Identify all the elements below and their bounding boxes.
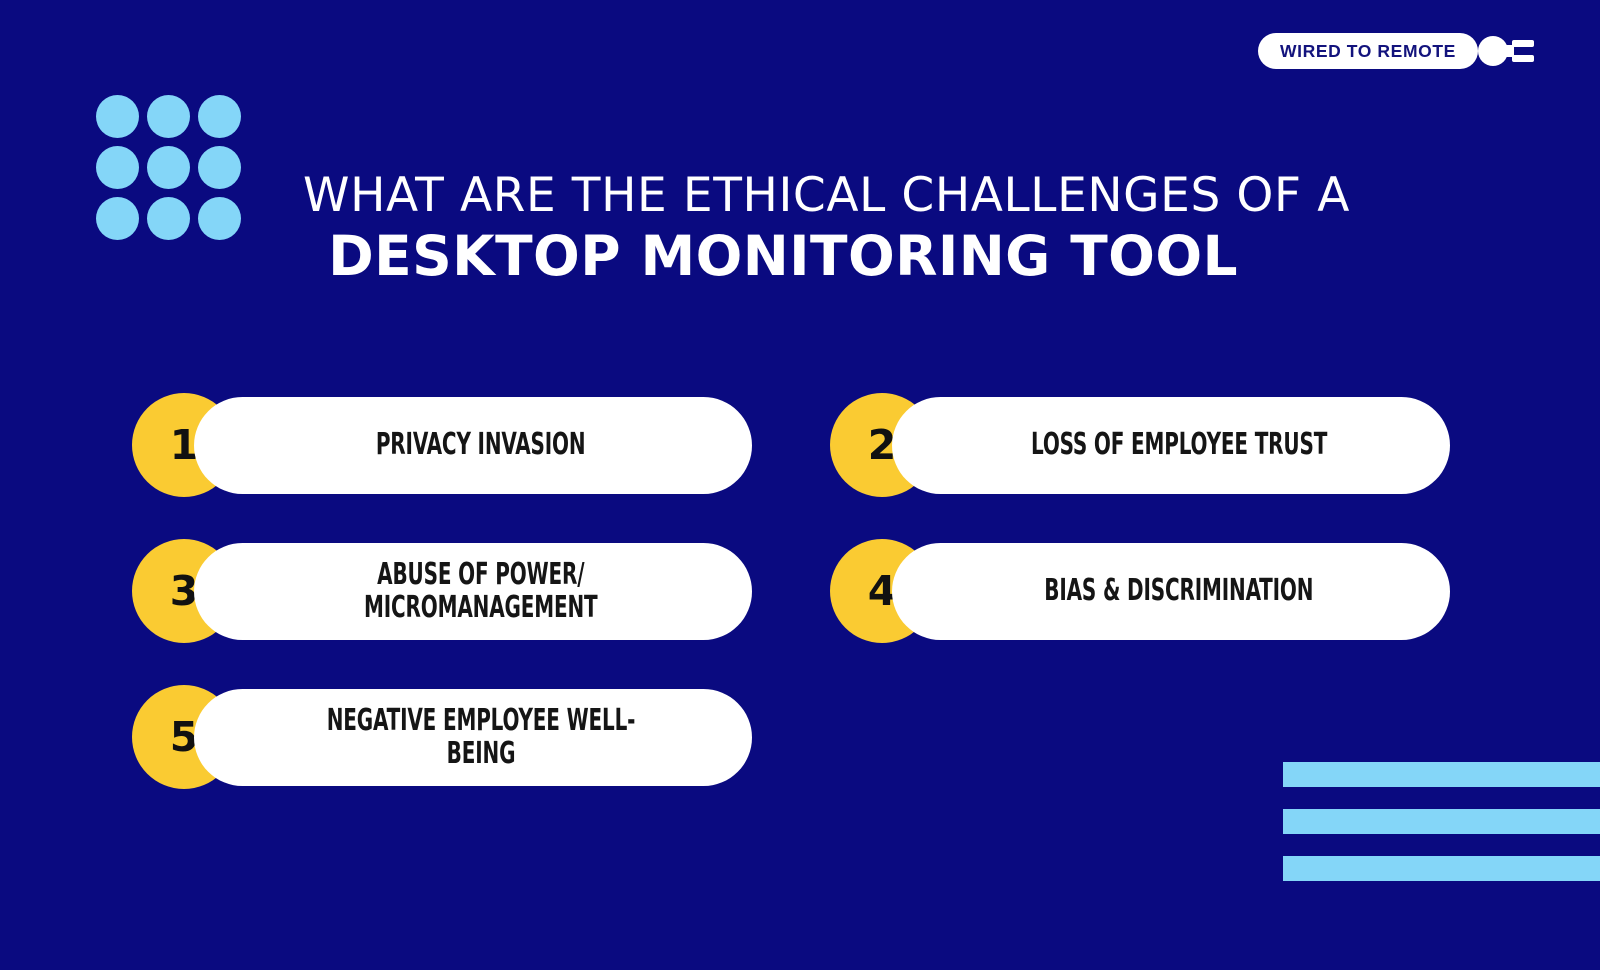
plug-icon <box>1474 33 1536 69</box>
dot-grid-dot <box>147 95 190 138</box>
title-line-primary: WHAT ARE THE ETHICAL CHALLENGES OF A <box>303 172 1263 221</box>
page-title: WHAT ARE THE ETHICAL CHALLENGES OF A DES… <box>303 172 1263 286</box>
dot-grid-dot <box>96 95 139 138</box>
decor-stripe <box>1283 809 1600 834</box>
card-row: 5 NEGATIVE EMPLOYEE WELL-BEING <box>132 685 1452 789</box>
brand-name: WIRED TO REMOTE <box>1280 41 1456 62</box>
card-label: ABUSE OF POWER/ MICROMANAGEMENT <box>364 559 598 624</box>
card-label: LOSS OF EMPLOYEE TRUST <box>1031 429 1327 461</box>
dot-grid-dot <box>147 197 190 240</box>
infographic-root: { "brand": { "name": "WIRED TO REMOTE", … <box>0 0 1600 970</box>
card-pill: PRIVACY INVASION <box>194 397 752 494</box>
brand-logo[interactable]: WIRED TO REMOTE <box>1258 33 1536 69</box>
card-pill: LOSS OF EMPLOYEE TRUST <box>892 397 1450 494</box>
title-line-emphasis: DESKTOP MONITORING TOOL <box>303 227 1263 286</box>
challenge-card-2[interactable]: 2 LOSS OF EMPLOYEE TRUST <box>830 393 1450 497</box>
dot-grid-dot <box>198 95 241 138</box>
card-pill: NEGATIVE EMPLOYEE WELL-BEING <box>194 689 752 786</box>
challenge-card-3[interactable]: 3 ABUSE OF POWER/ MICROMANAGEMENT <box>132 539 752 643</box>
card-label: NEGATIVE EMPLOYEE WELL-BEING <box>322 705 640 770</box>
card-row: 3 ABUSE OF POWER/ MICROMANAGEMENT 4 BIAS… <box>132 539 1452 643</box>
stripe-decoration <box>1283 762 1600 881</box>
card-label: BIAS & DISCRIMINATION <box>1044 575 1313 607</box>
card-label: PRIVACY INVASION <box>376 429 586 461</box>
plug-prong-bottom-shape <box>1512 55 1534 62</box>
dot-grid-dot <box>198 197 241 240</box>
brand-logo-pill: WIRED TO REMOTE <box>1258 33 1478 69</box>
dot-grid-dot <box>96 197 139 240</box>
plug-prong-top-shape <box>1512 40 1534 47</box>
dot-grid-dot <box>198 146 241 189</box>
card-row: 1 PRIVACY INVASION 2 LOSS OF EMPLOYEE TR… <box>132 393 1452 497</box>
dot-grid-dot <box>147 146 190 189</box>
card-pill: ABUSE OF POWER/ MICROMANAGEMENT <box>194 543 752 640</box>
challenge-card-4[interactable]: 4 BIAS & DISCRIMINATION <box>830 539 1450 643</box>
challenge-card-5[interactable]: 5 NEGATIVE EMPLOYEE WELL-BEING <box>132 685 752 789</box>
dot-grid-dot <box>96 146 139 189</box>
challenge-card-1[interactable]: 1 PRIVACY INVASION <box>132 393 752 497</box>
card-pill: BIAS & DISCRIMINATION <box>892 543 1450 640</box>
decor-stripe <box>1283 762 1600 787</box>
dot-grid-icon <box>96 95 241 240</box>
decor-stripe <box>1283 856 1600 881</box>
challenge-card-list: 1 PRIVACY INVASION 2 LOSS OF EMPLOYEE TR… <box>132 393 1452 831</box>
